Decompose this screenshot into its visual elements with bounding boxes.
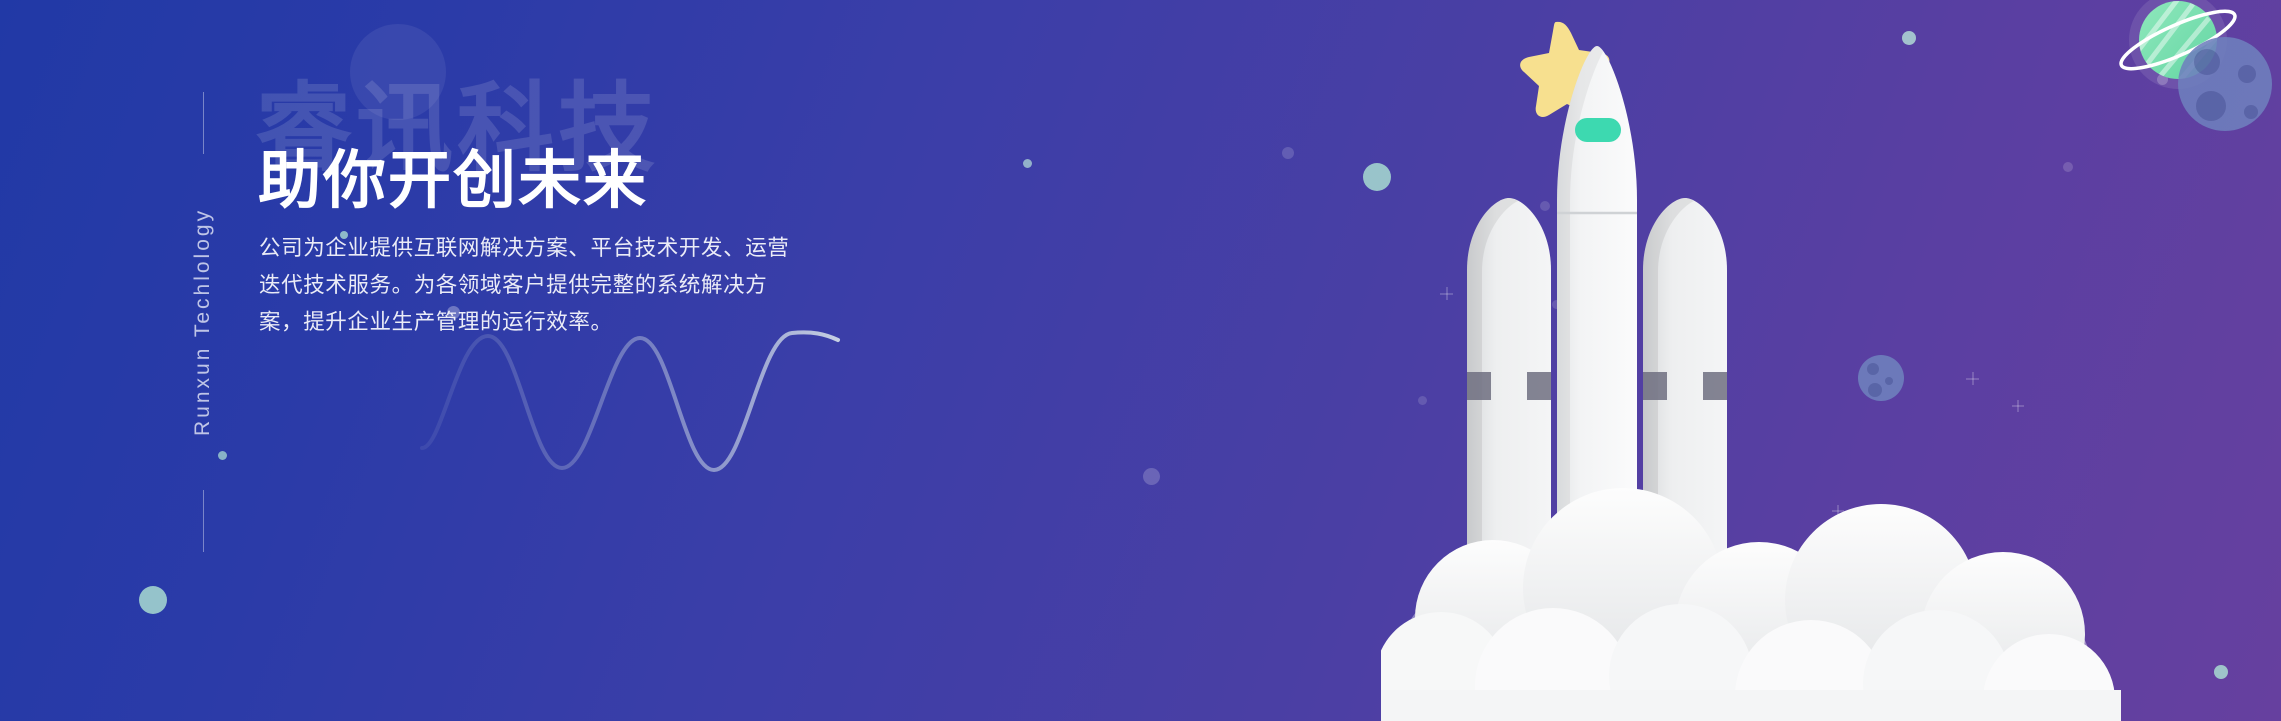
- moon-icon: [2178, 37, 2272, 131]
- brand-line-bottom: [203, 490, 204, 552]
- hero-banner: Runxun Techlology 睿讯科技 助你开创未来 公司为企业提供互联网…: [0, 0, 2281, 721]
- decor-dot-mint: [139, 586, 167, 614]
- page-title: 助你开创未来: [258, 145, 648, 217]
- small-moon-icon: [1858, 355, 1904, 401]
- sine-wave-decoration: [420, 300, 870, 500]
- decor-dot-white: [1282, 147, 1294, 159]
- vertical-brand-strip: Runxun Techlology: [181, 92, 225, 552]
- brand-line-top: [203, 92, 204, 154]
- decor-dot-white: [1143, 468, 1160, 485]
- vertical-brand-text: Runxun Techlology: [191, 154, 215, 490]
- decor-circle-large: [350, 24, 446, 120]
- decor-dot-mint: [1023, 159, 1032, 168]
- space-illustration: [1381, 0, 2281, 721]
